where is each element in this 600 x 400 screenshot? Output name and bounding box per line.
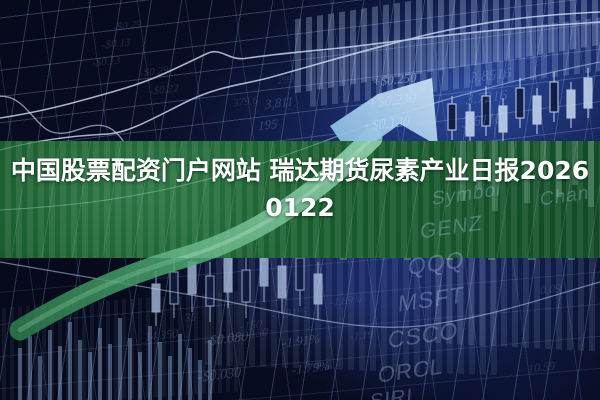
- page-title: 中国股票配资门户网站 瑞达期货尿素产业日报2026 0122: [0, 152, 600, 226]
- page-title-line-1: 中国股票配资门户网站 瑞达期货尿素产业日报2026: [0, 152, 600, 189]
- stock-banner-image: +$0.250+$0.230+$0.1303.85163.72163.61163…: [0, 0, 600, 400]
- page-title-line-2: 0122: [0, 189, 600, 226]
